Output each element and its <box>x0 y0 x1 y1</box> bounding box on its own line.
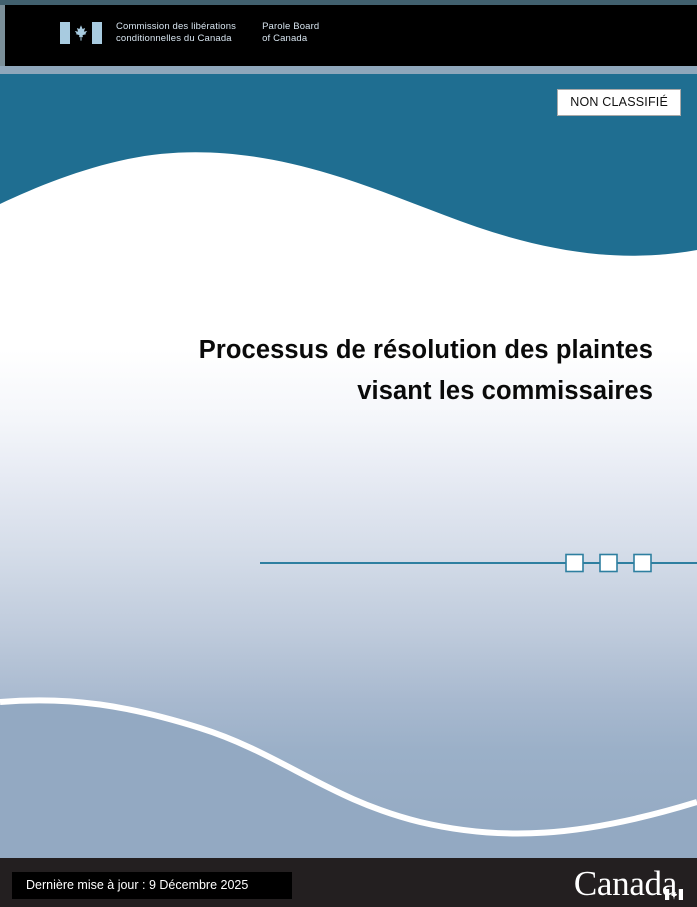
bottom-wave-curve <box>0 640 697 860</box>
header-under-rail <box>0 66 697 74</box>
classification-badge: NON CLASSIFIÉ <box>557 89 681 116</box>
signature-fr-line1: Commission des libérations <box>116 21 236 33</box>
page-footer: Dernière mise à jour : 9 Décembre 2025 C… <box>0 858 697 907</box>
page-title: Processus de résolution des plaintes vis… <box>44 330 653 412</box>
federal-identity-signature: Commission des libérations conditionnell… <box>60 21 319 44</box>
title-line-2: visant les commissaires <box>44 371 653 412</box>
cover-page: Commission des libérations conditionnell… <box>0 0 697 907</box>
signature-en-line2: of Canada <box>262 33 319 45</box>
title-line-1: Processus de résolution des plaintes <box>44 330 653 371</box>
government-header-bar: Commission des libérations conditionnell… <box>0 5 697 66</box>
signature-english: Parole Board of Canada <box>262 21 319 44</box>
last-updated-label: Dernière mise à jour : 9 Décembre 2025 <box>12 872 292 899</box>
canada-wordmark-text: Canada <box>574 864 677 903</box>
canada-wordmark: Canada <box>574 864 681 904</box>
signature-fr-line2: conditionnelles du Canada <box>116 33 236 45</box>
teal-banner: NON CLASSIFIÉ <box>0 74 697 274</box>
canada-flag-icon <box>665 869 683 880</box>
signature-french: Commission des libérations conditionnell… <box>116 21 236 44</box>
canada-flag-icon <box>60 22 102 44</box>
signature-en-line1: Parole Board <box>262 21 319 33</box>
decorative-rule <box>0 548 697 578</box>
signature-text-block: Commission des libérations conditionnell… <box>116 21 319 44</box>
